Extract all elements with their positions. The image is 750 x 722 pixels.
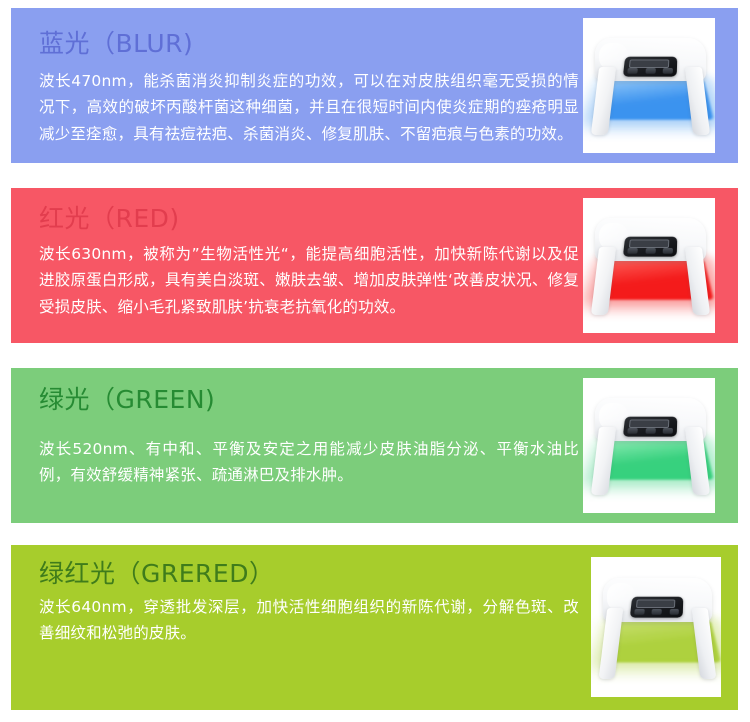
card-text-block-green: 绿光（GREEN) 波长520nm、有中和、平衡及安定之用能减少皮肤油脂分泌、平… xyxy=(39,368,579,523)
device-left-leg-green-red xyxy=(598,608,623,679)
control-key-icon xyxy=(627,68,637,74)
device-arch-shell-green-red xyxy=(603,578,712,679)
card-text-block-green-red: 绿红光（GRERED） 波长640nm，穿透批发深层，加快活性细胞组织的新陈代谢… xyxy=(39,545,579,710)
device-photo-green-red xyxy=(591,557,721,697)
card-description-red: 波长630nm，被称为”生物活性光“，能提高细胞活性，加快新陈代谢以及促进胶原蛋… xyxy=(39,241,579,321)
control-key-icon xyxy=(652,609,662,615)
control-key-icon xyxy=(627,248,637,254)
led-device-illustration-green-red xyxy=(591,557,721,697)
mode-card-green-light: 绿光（GREEN) 波长520nm、有中和、平衡及安定之用能减少皮肤油脂分泌、平… xyxy=(11,368,738,523)
control-keys-blue xyxy=(627,67,673,74)
control-key-icon xyxy=(662,248,672,254)
device-photo-red xyxy=(583,198,715,333)
control-keys-green-red xyxy=(634,608,679,615)
device-arch-shell-red xyxy=(595,218,706,315)
display-screen-blue xyxy=(628,59,669,67)
card-description-blue: 波长470nm，能杀菌消炎抑制炎症的功效，可以在对皮肤组织毫无受损的情况下，高效… xyxy=(39,68,579,148)
led-device-illustration-red xyxy=(583,198,715,333)
mode-card-red-light: 红光（RED) 波长630nm，被称为”生物活性光“，能提高细胞活性，加快新陈代… xyxy=(11,188,738,343)
device-arch-shell-green xyxy=(595,398,706,495)
device-left-leg-blue xyxy=(591,67,616,135)
control-panel-blue xyxy=(622,56,677,76)
control-key-icon xyxy=(627,428,637,434)
control-panel-red xyxy=(622,236,677,256)
card-title-green-red: 绿红光（GRERED） xyxy=(39,560,579,588)
card-title-red: 红光（RED) xyxy=(39,205,579,233)
device-photo-green xyxy=(583,378,715,513)
device-photo-blue xyxy=(583,18,715,153)
control-key-icon xyxy=(669,609,679,615)
control-key-icon xyxy=(645,68,655,74)
control-key-icon xyxy=(645,248,655,254)
card-description-green-red: 波长640nm，穿透批发深层，加快活性细胞组织的新陈代谢，分解色斑、改善细纹和松… xyxy=(39,594,579,647)
card-description-green: 波长520nm、有中和、平衡及安定之用能减少皮肤油脂分泌、平衡水油比例，有效舒缓… xyxy=(39,436,579,489)
display-screen-green xyxy=(628,419,669,427)
control-key-icon xyxy=(634,609,644,615)
led-device-illustration-blue xyxy=(583,18,715,153)
mode-card-blue-light: 蓝光（BLUR) 波长470nm，能杀菌消炎抑制炎症的功效，可以在对皮肤组织毫无… xyxy=(11,8,738,163)
control-keys-red xyxy=(627,247,673,254)
led-device-illustration-green xyxy=(583,378,715,513)
control-keys-green xyxy=(627,427,673,434)
device-left-leg-green xyxy=(591,427,616,495)
device-arch-shell-blue xyxy=(595,38,706,135)
control-key-icon xyxy=(662,68,672,74)
card-text-block-blue: 蓝光（BLUR) 波长470nm，能杀菌消炎抑制炎症的功效，可以在对皮肤组织毫无… xyxy=(39,8,579,163)
control-panel-green xyxy=(622,416,677,436)
card-title-green: 绿光（GREEN) xyxy=(39,386,579,414)
mode-card-green-red-light: 绿红光（GRERED） 波长640nm，穿透批发深层，加快活性细胞组织的新陈代谢… xyxy=(11,545,738,710)
control-key-icon xyxy=(662,428,672,434)
control-key-icon xyxy=(645,428,655,434)
display-screen-red xyxy=(628,239,669,247)
device-left-leg-red xyxy=(591,247,616,315)
light-therapy-modes-infographic: 蓝光（BLUR) 波长470nm，能杀菌消炎抑制炎症的功效，可以在对皮肤组织毫无… xyxy=(0,0,750,722)
card-title-blue: 蓝光（BLUR) xyxy=(39,30,579,58)
card-text-block-red: 红光（RED) 波长630nm，被称为”生物活性光“，能提高细胞活性，加快新陈代… xyxy=(39,188,579,343)
control-panel-green-red xyxy=(630,597,684,618)
